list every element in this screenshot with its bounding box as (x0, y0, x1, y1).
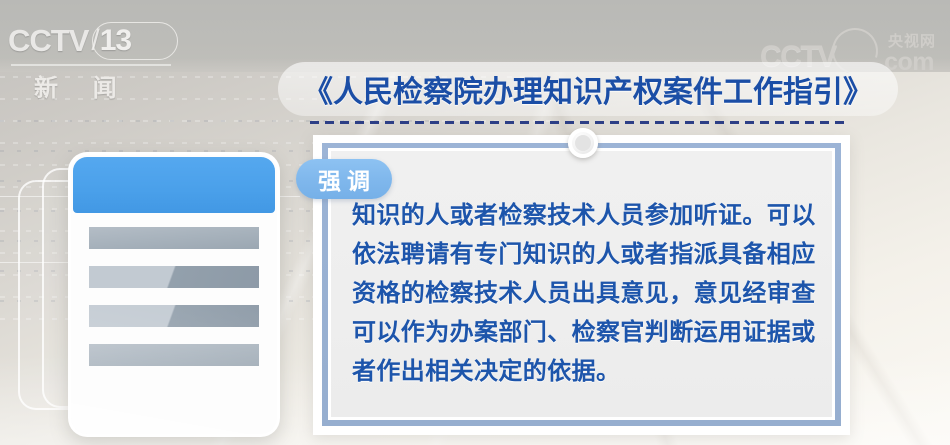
cctv13-subtitle: 新 闻 (34, 68, 131, 103)
cctv13-oval-outline (92, 22, 178, 60)
dashed-divider (310, 121, 850, 124)
panel-body-text: 知识的人或者检察技术人员参加听证。可以依法聘请有专门知识的人或者指派具备相应资格… (352, 196, 830, 391)
cctv13-logo: CCTV / 13 新 闻 (8, 24, 178, 100)
document-card-line (89, 344, 259, 366)
status-badge: 强调 (296, 159, 392, 199)
document-card-line (89, 266, 259, 288)
cctv13-underline (11, 64, 171, 66)
broadcast-frame: CCTV / 13 新 闻 CCTV 央视网 com 《人民检察院办理知识产权案… (0, 0, 950, 445)
document-card-line (89, 305, 259, 327)
cctv13-letters: CCTV (8, 24, 88, 58)
document-card-header (73, 157, 275, 213)
page-title: 《人民检察院办理知识产权案件工作指引》 (278, 62, 898, 116)
document-card-line (89, 227, 259, 249)
document-card-graphic (68, 152, 280, 437)
panel-knob-icon (568, 128, 598, 158)
document-card-lines (71, 213, 277, 366)
